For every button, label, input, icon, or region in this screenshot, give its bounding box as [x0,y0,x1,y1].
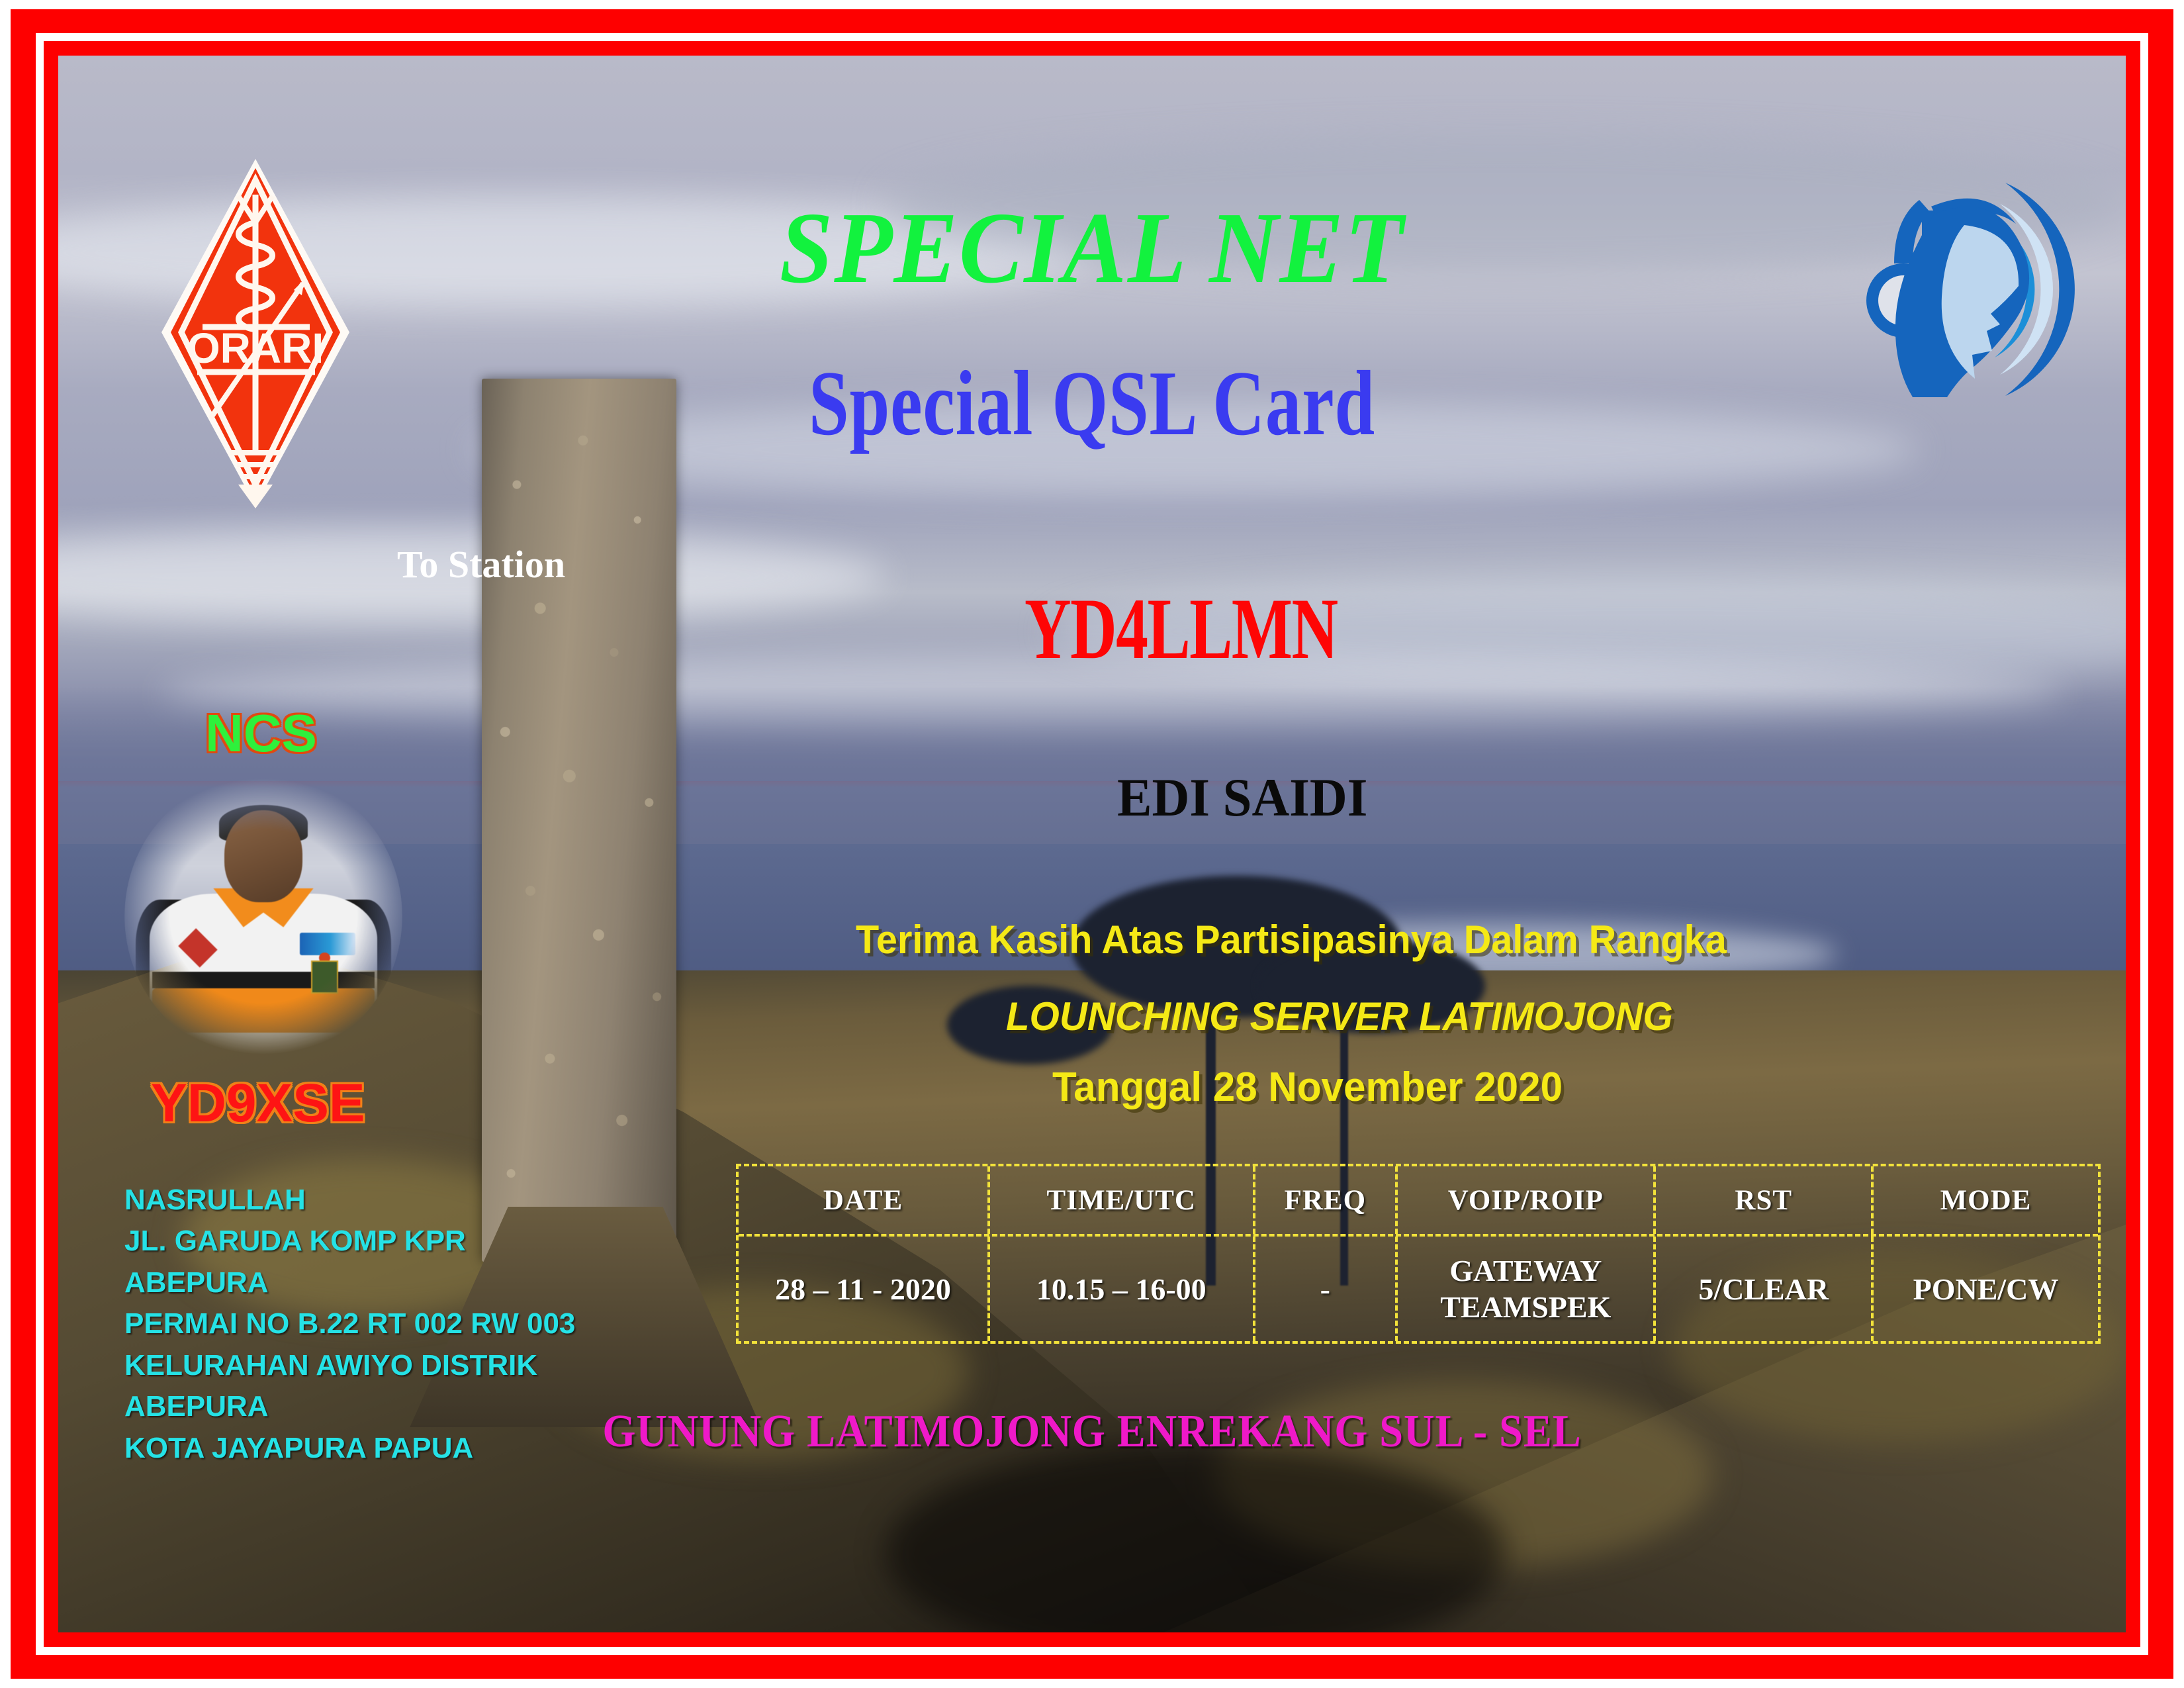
cell-mode: PONE/CW [1874,1237,2098,1341]
ncs-callsign: YD9XSE [151,1076,365,1131]
website-address: Address : amatir.latimojong.com [1302,1630,1895,1632]
thanks-line: Terima Kasih Atas Partisipasinya Dalam R… [856,920,1727,960]
column-header-voip-roip: VOIP/ROIP [1398,1166,1656,1234]
ncs-operator-avatar [124,777,402,1055]
address-line: ABEPURA [124,1262,575,1303]
table-row: 28 – 11 - 2020 10.15 – 16-00 - GATEWAY T… [739,1234,2098,1341]
cell-voip-roip: GATEWAY TEAMSPEK [1398,1237,1656,1341]
pillar-texture [482,379,676,1262]
cell-voip-line1: GATEWAY [1440,1252,1611,1289]
event-line: LOUNCHING SERVER LATIMOJONG [1006,997,1673,1037]
summit-stone-pillar [482,379,676,1262]
table-header-row: DATE TIME/UTC FREQ VOIP/ROIP RST MODE [739,1166,2098,1234]
to-station-label: To Station [397,545,565,584]
ncs-label: NCS [205,707,317,760]
cell-rst: 5/CLEAR [1656,1237,1874,1341]
cell-time-utc: 10.15 – 16-00 [990,1237,1255,1341]
address-line: KELURAHAN AWIYO DISTRIK [124,1345,575,1386]
column-header-freq: FREQ [1255,1166,1398,1234]
address-line: JL. GARUDA KOMP KPR [124,1221,575,1262]
page-title-special-net: SPECIAL NET [120,197,2064,299]
operator-name: EDI SAIDI [1117,771,1367,825]
cell-freq: - [1255,1237,1398,1341]
column-header-rst: RST [1656,1166,1874,1234]
cell-voip-line2: TEAMSPEK [1440,1289,1611,1325]
station-callsign: YD4LLMN [1024,585,1338,673]
event-date-line: Tanggal 28 November 2020 [1052,1067,1563,1108]
column-header-date: DATE [739,1166,990,1234]
qsl-card: ORARI SPECIAL NET Special QSL Card [0,0,2184,1688]
qso-log-table: DATE TIME/UTC FREQ VOIP/ROIP RST MODE 28… [736,1164,2101,1344]
location-line: GUNUNG LATIMOJONG ENREKANG SUL - SEL [141,1409,2043,1455]
address-line: PERMAI NO B.22 RT 002 RW 003 [124,1303,575,1344]
page-subtitle-qsl-card: Special QSL Card [286,357,1899,450]
cell-date: 28 – 11 - 2020 [739,1237,990,1341]
motto-text: "AMATIR RADIO ADALAH PROGRESIVE" [138,1630,882,1632]
background-photo: ORARI SPECIAL NET Special QSL Card [58,56,2126,1632]
column-header-time-utc: TIME/UTC [990,1166,1255,1234]
column-header-mode: MODE [1874,1166,2098,1234]
address-line: NASRULLAH [124,1180,575,1221]
